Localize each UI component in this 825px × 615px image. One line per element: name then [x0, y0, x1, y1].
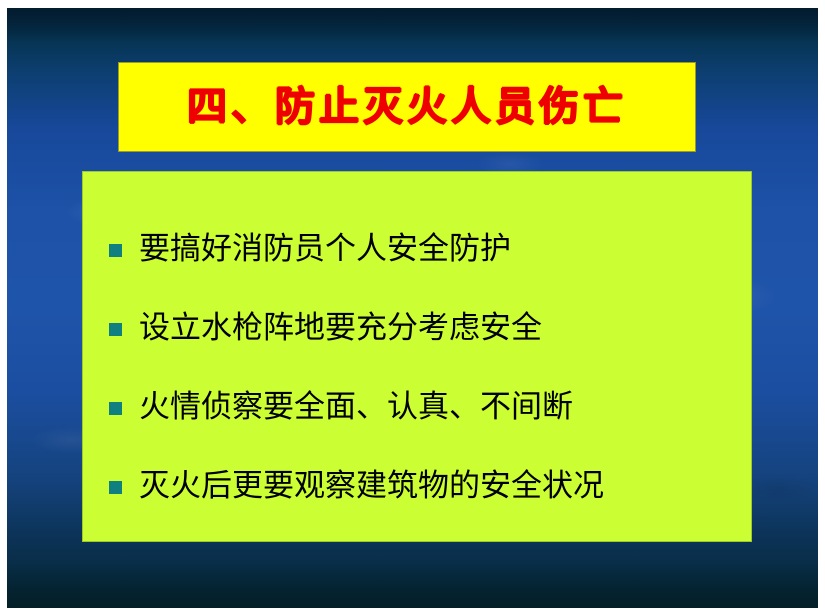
- slide-title-box: 四、防止灭火人员伤亡: [118, 62, 696, 152]
- square-bullet-icon: [109, 323, 122, 336]
- bullet-text: 要搞好消防员个人安全防护: [139, 232, 511, 266]
- list-item: 设立水枪阵地要充分考虑安全: [95, 289, 731, 368]
- list-item: 火情侦察要全面、认真、不间断: [95, 368, 731, 447]
- slide-title-text: 四、防止灭火人员伤亡: [187, 87, 627, 127]
- square-bullet-icon: [109, 244, 122, 257]
- square-bullet-icon: [109, 481, 122, 494]
- list-item: 灭火后更要观察建筑物的安全状况: [95, 447, 731, 526]
- slide-background: 四、防止灭火人员伤亡 要搞好消防员个人安全防护 设立水枪阵地要充分考虑安全 火情…: [7, 8, 818, 608]
- bullet-text: 设立水枪阵地要充分考虑安全: [139, 311, 542, 345]
- background-bottom-shade: [7, 562, 818, 608]
- bullet-text: 火情侦察要全面、认真、不间断: [139, 390, 573, 424]
- slide-content-box: 要搞好消防员个人安全防护 设立水枪阵地要充分考虑安全 火情侦察要全面、认真、不间…: [82, 171, 752, 542]
- bullet-text: 灭火后更要观察建筑物的安全状况: [139, 469, 604, 503]
- square-bullet-icon: [109, 402, 122, 415]
- bullet-list: 要搞好消防员个人安全防护 设立水枪阵地要充分考虑安全 火情侦察要全面、认真、不间…: [95, 210, 731, 526]
- list-item: 要搞好消防员个人安全防护: [95, 210, 731, 289]
- background-top-shade: [7, 8, 818, 42]
- presentation-slide: 四、防止灭火人员伤亡 要搞好消防员个人安全防护 设立水枪阵地要充分考虑安全 火情…: [0, 0, 825, 615]
